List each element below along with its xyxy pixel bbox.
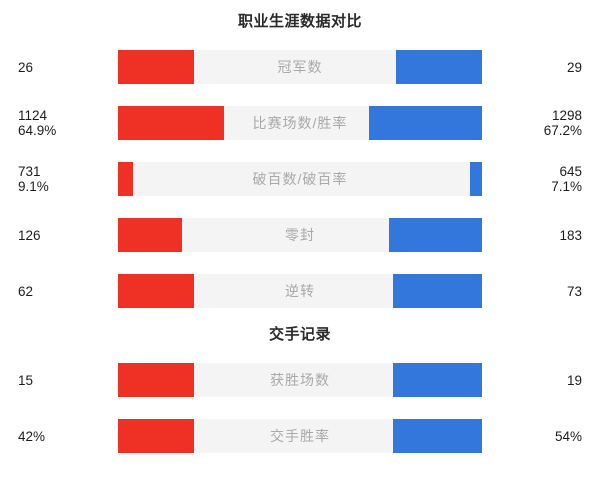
stat-row: 42%交手胜率54% bbox=[0, 416, 600, 456]
bar-track: 零封 bbox=[118, 218, 482, 252]
right-player-value: 29 bbox=[482, 60, 600, 75]
stat-row: 731 9.1%破百数/破百率645 7.1% bbox=[0, 159, 600, 199]
right-player-value: 54% bbox=[482, 429, 600, 444]
right-player-bar bbox=[393, 363, 482, 397]
right-player-value: 183 bbox=[482, 228, 600, 243]
career-stats-section: 职业生涯数据对比 26冠军数291124 64.9%比赛场数/胜率1298 67… bbox=[0, 0, 600, 311]
left-player-value: 62 bbox=[0, 284, 118, 299]
career-section-title: 职业生涯数据对比 bbox=[0, 0, 600, 47]
head-to-head-rows-container: 15获胜场数1942%交手胜率54% bbox=[0, 360, 600, 456]
right-player-bar bbox=[396, 50, 482, 84]
stat-row: 62逆转73 bbox=[0, 271, 600, 311]
left-player-value: 26 bbox=[0, 60, 118, 75]
stat-row: 15获胜场数19 bbox=[0, 360, 600, 400]
left-player-bar bbox=[118, 50, 194, 84]
bar-track: 比赛场数/胜率 bbox=[118, 106, 482, 140]
bar-track: 逆转 bbox=[118, 274, 482, 308]
right-player-bar bbox=[393, 274, 482, 308]
left-player-value: 1124 64.9% bbox=[0, 108, 118, 138]
head-to-head-section: 交手记录 15获胜场数1942%交手胜率54% bbox=[0, 311, 600, 456]
stat-label: 破百数/破百率 bbox=[118, 162, 482, 196]
right-player-bar bbox=[393, 419, 482, 453]
bar-track: 获胜场数 bbox=[118, 363, 482, 397]
head-to-head-section-title: 交手记录 bbox=[0, 311, 600, 360]
left-player-value: 731 9.1% bbox=[0, 164, 118, 194]
bar-track: 冠军数 bbox=[118, 50, 482, 84]
left-player-value: 42% bbox=[0, 429, 118, 444]
left-player-bar bbox=[118, 419, 194, 453]
bar-track: 破百数/破百率 bbox=[118, 162, 482, 196]
right-player-bar bbox=[389, 218, 482, 252]
career-rows-container: 26冠军数291124 64.9%比赛场数/胜率1298 67.2%731 9.… bbox=[0, 47, 600, 311]
right-player-value: 1298 67.2% bbox=[482, 108, 600, 138]
right-player-value: 645 7.1% bbox=[482, 164, 600, 194]
left-player-bar bbox=[118, 274, 194, 308]
left-player-bar bbox=[118, 106, 224, 140]
right-player-bar bbox=[470, 162, 482, 196]
right-player-bar bbox=[369, 106, 482, 140]
left-player-value: 15 bbox=[0, 373, 118, 388]
stats-comparison-page: 职业生涯数据对比 26冠军数291124 64.9%比赛场数/胜率1298 67… bbox=[0, 0, 600, 480]
left-player-bar bbox=[118, 218, 182, 252]
stat-row: 26冠军数29 bbox=[0, 47, 600, 87]
right-player-value: 73 bbox=[482, 284, 600, 299]
right-player-value: 19 bbox=[482, 373, 600, 388]
left-player-bar bbox=[118, 162, 133, 196]
left-player-value: 126 bbox=[0, 228, 118, 243]
bar-track: 交手胜率 bbox=[118, 419, 482, 453]
left-player-bar bbox=[118, 363, 194, 397]
stat-row: 126零封183 bbox=[0, 215, 600, 255]
stat-row: 1124 64.9%比赛场数/胜率1298 67.2% bbox=[0, 103, 600, 143]
